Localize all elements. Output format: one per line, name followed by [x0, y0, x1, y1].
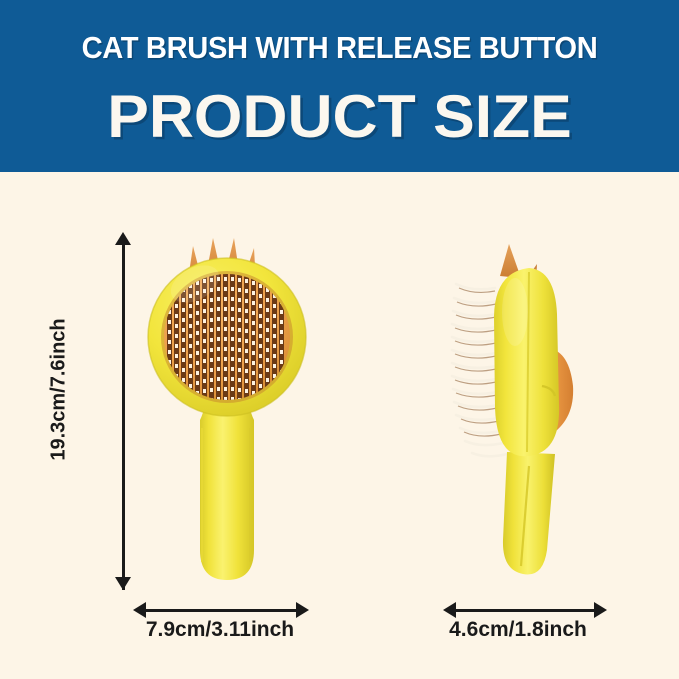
- bristle-shadows: [455, 288, 501, 436]
- page-title: CAT BRUSH WITH RELEASE BUTTON: [20, 30, 658, 66]
- page-subtitle: PRODUCT SIZE: [0, 82, 679, 151]
- side-width-dimension-label: 4.6cm/1.8inch: [428, 618, 608, 642]
- height-dimension-line: [122, 240, 125, 590]
- cat-brush-front-view: [140, 232, 315, 597]
- arrow-right-icon: [296, 602, 309, 618]
- arrow-down-icon: [115, 577, 131, 590]
- side-width-dimension-line: [451, 609, 597, 612]
- product-size-infographic: CAT BRUSH WITH RELEASE BUTTON PRODUCT SI…: [0, 0, 679, 679]
- header-banner: CAT BRUSH WITH RELEASE BUTTON PRODUCT SI…: [0, 0, 679, 172]
- front-width-dimension-line: [141, 609, 299, 612]
- front-width-dimension-label: 7.9cm/3.11inch: [120, 618, 320, 642]
- height-dimension-label: 19.3cm/7.6inch: [48, 295, 71, 485]
- cat-brush-side-view: [443, 240, 608, 598]
- arrow-right-icon: [594, 602, 607, 618]
